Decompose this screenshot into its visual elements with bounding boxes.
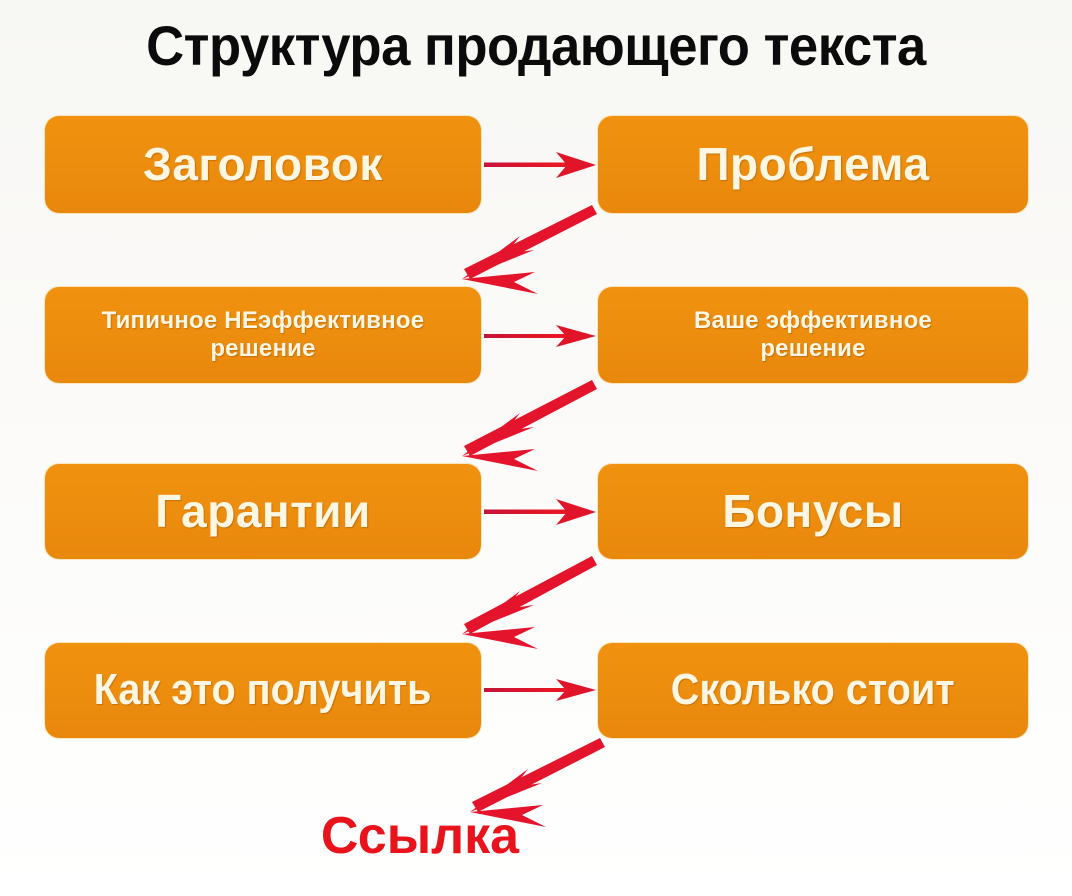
diagram-canvas: Структура продающего текста Заголовок Пр…	[0, 0, 1072, 896]
node-label: Как это получить	[94, 665, 432, 716]
node-zagolovok[interactable]: Заголовок	[45, 116, 481, 213]
node-ineffective-solution[interactable]: Типичное НЕэффективное решение	[45, 287, 481, 383]
page-title: Структура продающего текста	[32, 14, 1040, 78]
arrow-down-left-icon	[462, 205, 597, 294]
arrow-right-icon	[484, 152, 596, 178]
node-how-much[interactable]: Сколько стоит	[598, 643, 1028, 738]
arrow-down-left-icon	[462, 380, 597, 471]
node-problema[interactable]: Проблема	[598, 116, 1028, 213]
node-how-to-get[interactable]: Как это получить	[45, 643, 481, 738]
node-label: Гарантии	[155, 485, 371, 538]
arrow-right-icon	[484, 499, 596, 525]
node-effective-solution[interactable]: Ваше эффективное решение	[598, 287, 1028, 383]
link-label[interactable]: Ссылка	[250, 808, 590, 864]
node-label: Бонусы	[722, 485, 903, 538]
arrow-right-icon	[484, 325, 596, 347]
arrow-right-icon	[484, 679, 596, 701]
arrow-down-left-icon	[462, 556, 597, 649]
node-label: Заголовок	[143, 138, 383, 191]
node-label: Сколько стоит	[671, 665, 955, 716]
node-label: Типичное НЕэффективное решение	[102, 307, 425, 362]
node-label: Ваше эффективное решение	[694, 307, 932, 362]
node-label: Проблема	[696, 138, 929, 191]
node-bonusy[interactable]: Бонусы	[598, 464, 1028, 559]
node-garantii[interactable]: Гарантии	[45, 464, 481, 559]
